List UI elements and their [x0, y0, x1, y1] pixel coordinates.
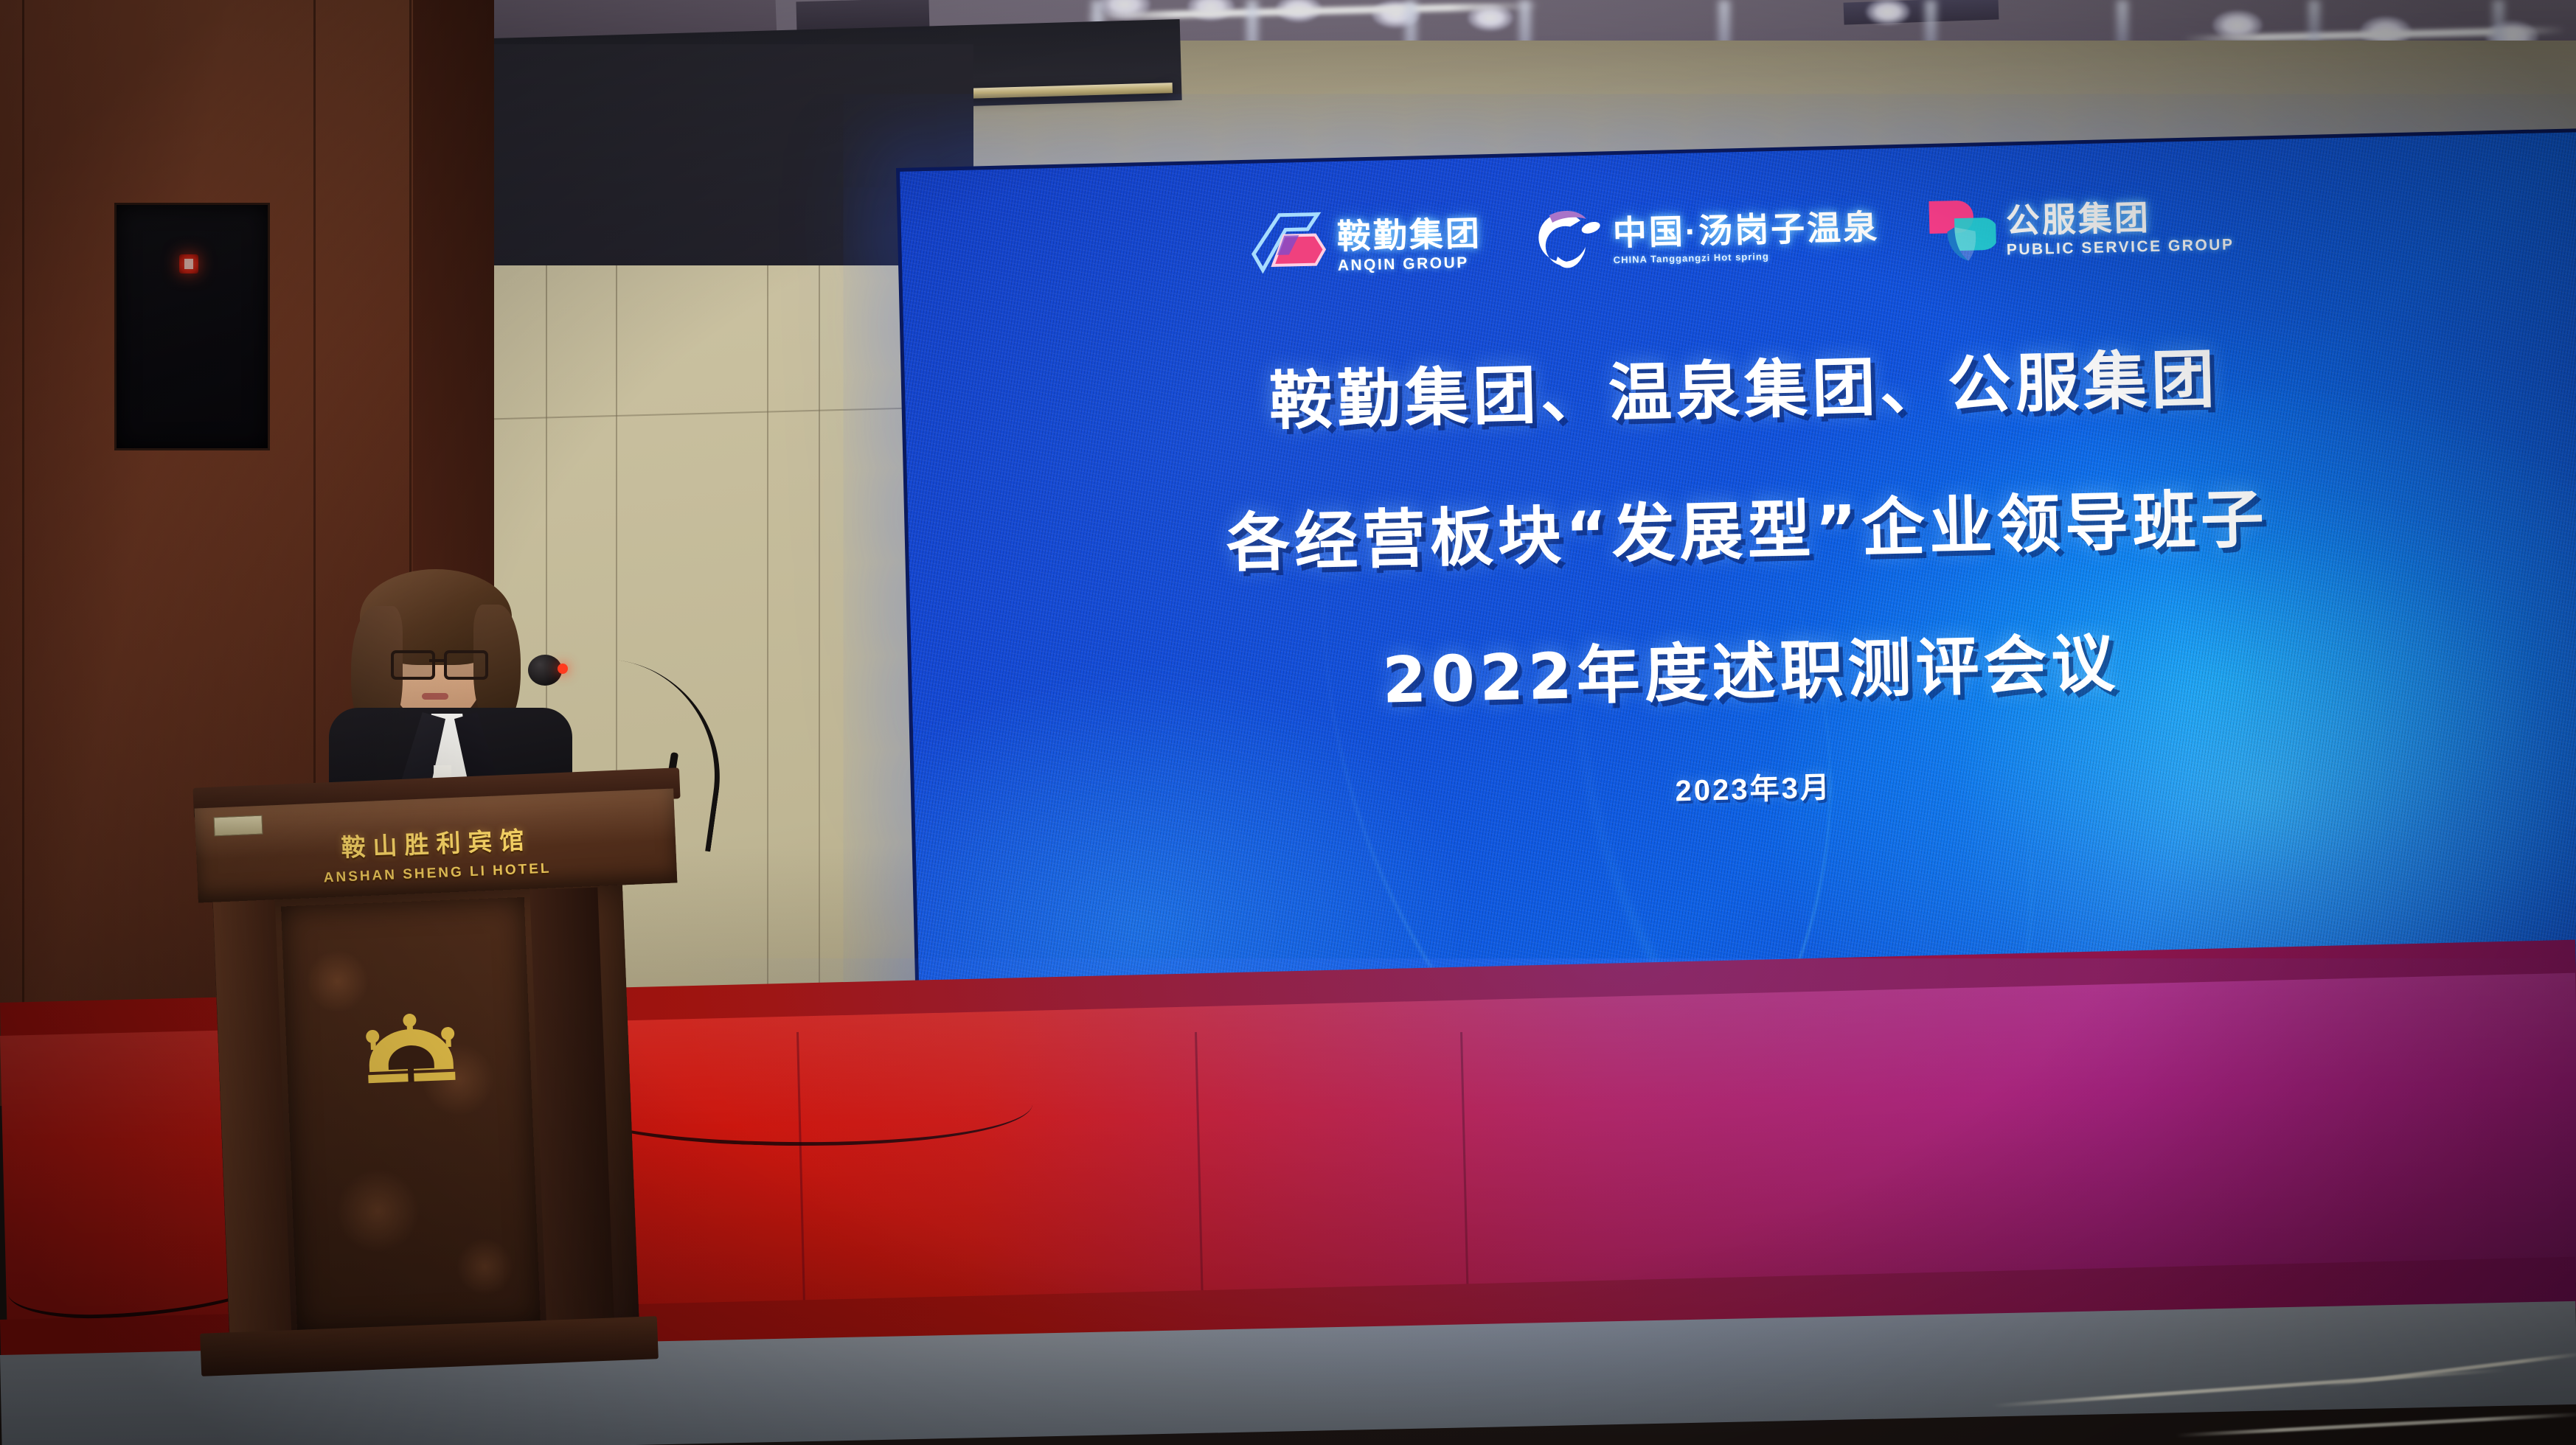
mouth	[422, 693, 448, 700]
microphone-head-icon	[528, 655, 562, 686]
logo-hotspring-text: 中国·汤岗子温泉 CHINA Tanggangzi Hot spring	[1612, 209, 1880, 264]
public-service-leaf-mark-icon	[1924, 192, 1996, 271]
podium-small-plate	[213, 815, 263, 837]
podium-carved-panel	[281, 897, 541, 1334]
wood-wall-seam	[22, 0, 24, 1076]
eyeglasses-icon	[391, 650, 484, 675]
logo-public-service-name-en: PUBLIC SERVICE GROUP	[2007, 237, 2235, 257]
logo-anqin-name-cn: 鞍勤集团	[1336, 216, 1482, 254]
logo-anqin-group: 鞍勤集团 ANQIN GROUP	[1246, 206, 1482, 285]
red-indicator-light-icon	[179, 254, 198, 274]
slide-title-line-3: 2022年度述职测评会议	[1381, 611, 2120, 721]
anqin-a-mark-icon	[1246, 209, 1327, 286]
logo-anqin-name-en: ANQIN GROUP	[1338, 254, 1482, 274]
logo-public-service-name-cn: 公服集团	[2005, 198, 2234, 237]
podium-venue-name-cn: 鞍山胜利宾馆	[340, 821, 532, 864]
eyeglass-lens-right	[444, 650, 488, 680]
logo-anqin-text: 鞍勤集团 ANQIN GROUP	[1336, 216, 1482, 274]
slide-date: 2023年3月	[1675, 763, 1833, 809]
logo-hotspring-name-cn: 中国·汤岗子温泉	[1612, 209, 1879, 250]
logo-tanggangzi-hot-spring: 中国·汤岗子温泉 CHINA Tanggangzi Hot spring	[1527, 195, 1881, 282]
wall-mounted-panel	[114, 203, 270, 450]
slide-content: 鞍勤集团 ANQIN GROUP	[900, 132, 2576, 1041]
logo-public-service-text: 公服集团 PUBLIC SERVICE GROUP	[2005, 198, 2234, 257]
eyeglass-lens-left	[391, 650, 435, 680]
podium: 鞍山胜利宾馆 ANSHAN SHENG LI HOTEL	[193, 778, 695, 1368]
logo-row: 鞍勤集团 ANQIN GROUP	[1246, 186, 2235, 288]
eyeglass-bridge	[429, 659, 445, 662]
podium-venue-name-en: ANSHAN SHENG LI HOTEL	[323, 861, 552, 887]
microphone-indicator-light	[558, 664, 568, 674]
slide-title-line-2: 各经营板块“发展型”企业领导班子	[1225, 467, 2269, 583]
logo-public-service-group: 公服集团 PUBLIC SERVICE GROUP	[1924, 187, 2235, 271]
slide-title-block: 鞍勤集团、温泉集团、公服集团 各经营板块“发展型”企业领导班子 2022年度述职…	[1222, 326, 2275, 820]
gold-crown-emblem-icon	[361, 1009, 460, 1093]
hotspring-swirl-mark-icon	[1527, 201, 1603, 281]
led-display-screen: 鞍勤集团 ANQIN GROUP	[896, 128, 2576, 1045]
podium-nameplate: 鞍山胜利宾馆 ANSHAN SHENG LI HOTEL	[280, 809, 593, 896]
conference-room-photo: 鞍勤集团 ANQIN GROUP	[0, 0, 2576, 1445]
carpet-pattern-line	[2176, 1412, 2576, 1437]
led-screen-surface: 鞍勤集团 ANQIN GROUP	[900, 132, 2576, 1041]
slide-title-line-1: 鞍勤集团、温泉集团、公服集团	[1268, 327, 2220, 442]
